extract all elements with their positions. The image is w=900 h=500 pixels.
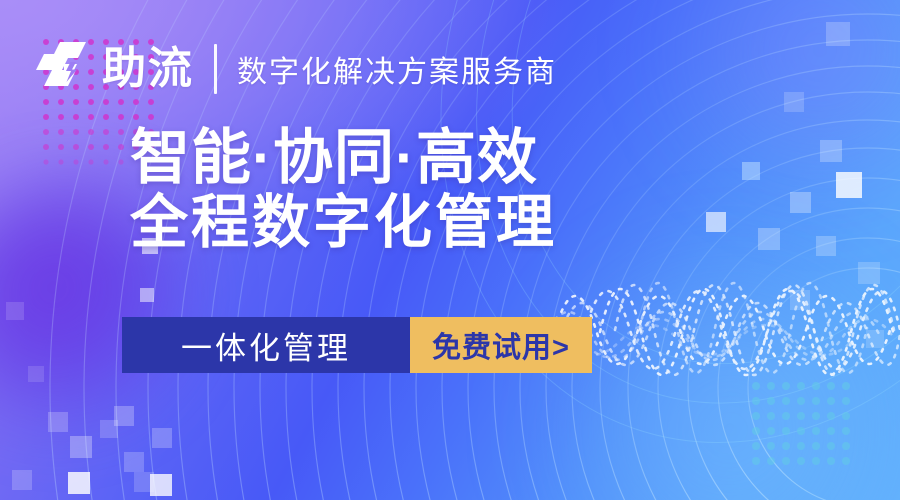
headline-line-1: 智能·协同·高效 — [130, 124, 557, 191]
brand-tagline: 数字化解决方案服务商 — [237, 47, 557, 91]
integrated-management-button[interactable]: 一体化管理 — [122, 317, 410, 373]
free-trial-button[interactable]: 免费试用> — [410, 317, 592, 373]
header-divider — [214, 44, 217, 94]
lightning-bolt-logo-icon — [30, 40, 92, 98]
cta-group: 一体化管理 免费试用> — [122, 317, 592, 373]
promo-banner: 助流 数字化解决方案服务商 智能·协同·高效 全程数字化管理 一体化管理 免费试… — [0, 0, 900, 500]
background-glow-top-right — [650, 0, 900, 220]
logo-wordmark: 助流 — [102, 47, 194, 91]
headline-block: 智能·协同·高效 全程数字化管理 — [130, 124, 557, 256]
headline-line-2: 全程数字化管理 — [130, 191, 557, 256]
brand-header: 助流 数字化解决方案服务商 — [30, 38, 557, 100]
